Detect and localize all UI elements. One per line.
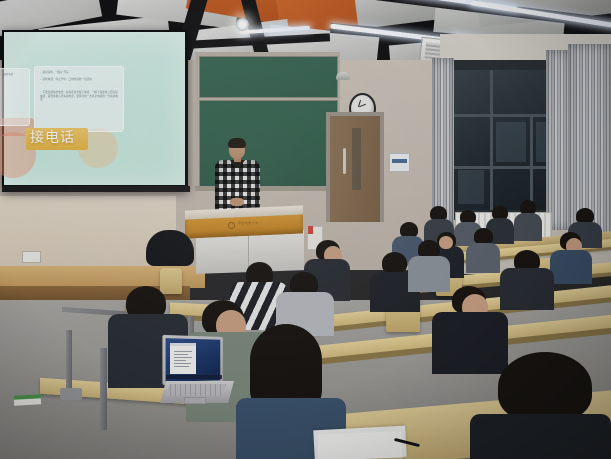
chair[interactable] [160, 268, 182, 294]
student-head [498, 352, 592, 422]
window-curtain[interactable] [432, 58, 454, 226]
slide-bullet: 按时接听，“您好”开头 [40, 71, 69, 75]
chalkboard-upper[interactable] [199, 56, 338, 98]
podium-equipment-indicator [308, 226, 313, 234]
slide-left-card-label: 接听电话 [1, 73, 13, 77]
laptop-document-window[interactable] [170, 343, 196, 374]
desk-support [66, 330, 72, 390]
student-body [432, 312, 508, 374]
podium-base-seam [248, 234, 249, 270]
slide-left-card: 接听电话 [0, 68, 30, 126]
slide-bullet: 不要忽视每经电话：在先等双方留下电话，一握下保要电上面为接电话，需要重视与紧先接… [40, 91, 120, 102]
projector-screen[interactable]: 接听电话 按时接听，“您好”开头 接听电话，停止手中、口中的其他一切活动 不要忽… [4, 32, 185, 185]
student-body [550, 250, 592, 284]
light-switch-plate[interactable] [22, 251, 41, 263]
student-body [500, 268, 554, 310]
student-body [466, 243, 500, 273]
student-head [382, 252, 407, 274]
student-body [514, 213, 542, 241]
window-glass [448, 70, 556, 210]
emergency-light [336, 72, 350, 80]
laptop-touchpad[interactable] [184, 397, 206, 404]
podium-logo: 中国地质大学 [228, 221, 278, 229]
paper-sheet[interactable] [318, 432, 403, 459]
slide-body-card: 按时接听，“您好”开头 接听电话，停止手中、口中的其他一切活动 不要忽视每经电话… [34, 66, 124, 132]
student-body [470, 414, 611, 459]
laptop-keyboard[interactable] [166, 384, 226, 396]
projector-screen-bottom-bar [2, 186, 190, 192]
spotlight-icon [236, 18, 249, 31]
student-head [146, 230, 194, 266]
slide-title: 接电话 [30, 131, 75, 145]
desk-support [100, 348, 107, 430]
lecture-hall-photo: 接听电话 按时接听，“您好”开头 接听电话，停止手中、口中的其他一切活动 不要忽… [0, 0, 611, 459]
student-face [439, 236, 453, 249]
laptop-taskbar[interactable] [166, 375, 222, 379]
laptop-document-titlebar [170, 343, 196, 346]
desk-foot [60, 388, 82, 400]
instructor-hair [228, 138, 246, 148]
door-glass-panel [352, 128, 361, 190]
instructor-hands [230, 198, 244, 206]
podium-logo-text: 中国地质大学 [238, 221, 258, 225]
wall-sign [389, 153, 410, 172]
student-body [408, 256, 450, 292]
door-handle[interactable] [343, 148, 346, 174]
podium-logo-mark-icon [228, 222, 235, 229]
slide-bullet: 接听电话，停止手中、口中的其他一切活动 [40, 78, 92, 82]
